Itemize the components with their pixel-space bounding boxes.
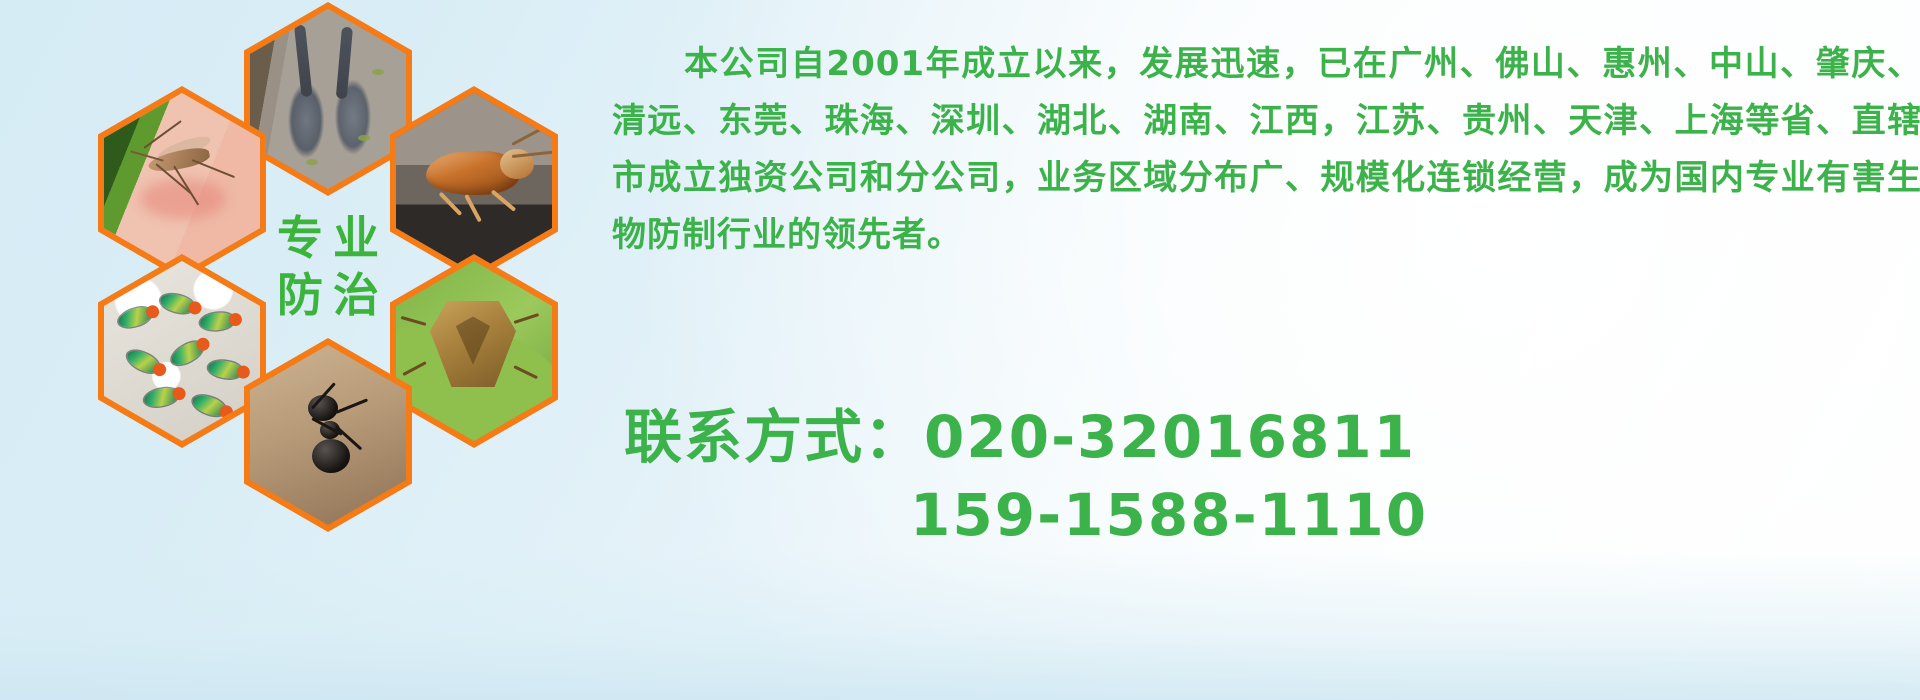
slogan-text: 专业 防治 <box>267 210 389 325</box>
slogan-line-1: 专业 <box>267 210 389 268</box>
hex-cell-cockroach[interactable] <box>390 86 558 280</box>
contact-line-primary[interactable]: 联系方式：020-32016811 <box>624 398 1920 476</box>
hex-cell-stinkbug[interactable] <box>390 254 558 448</box>
landline-number[interactable]: 020-32016811 <box>924 403 1416 471</box>
hex-inner-flies <box>104 261 260 441</box>
slogan-line-2: 防治 <box>267 267 389 325</box>
contact-line-secondary[interactable]: 159-1588-1110 <box>624 476 1920 554</box>
contact-block: 联系方式：020-32016811 159-1588-1110 <box>624 398 1920 554</box>
contact-label: 联系方式： <box>624 403 924 471</box>
stink-bug-photo <box>396 261 552 441</box>
hex-inner-cockroach <box>396 93 552 273</box>
ant-photo <box>250 345 406 525</box>
hex-inner-rats <box>250 9 406 189</box>
hex-cell-rats[interactable] <box>244 2 412 196</box>
cockroach-photo <box>396 93 552 273</box>
hex-inner-stinkbug <box>396 261 552 441</box>
hex-inner-ant <box>250 345 406 525</box>
hex-cell-flies[interactable] <box>98 254 266 448</box>
pest-control-banner: 专业 防治 本公司自2001年成立以来，发展迅速，已在广州、佛山、惠州、中山、肇… <box>0 0 1920 700</box>
hex-cell-center-slogan: 专业 防治 <box>244 170 412 364</box>
mosquito-photo <box>104 93 260 273</box>
hex-cell-ant[interactable] <box>244 338 412 532</box>
hex-inner-mosquito <box>104 93 260 273</box>
rats-photo <box>250 9 406 189</box>
company-description-paragraph: 本公司自2001年成立以来，发展迅速，已在广州、佛山、惠州、中山、肇庆、清远、东… <box>612 36 1920 264</box>
hex-cell-mosquito[interactable] <box>98 86 266 280</box>
flies-photo <box>104 261 260 441</box>
mobile-number[interactable]: 159-1588-1110 <box>910 481 1428 549</box>
hex-inner-center: 专业 防治 <box>250 177 406 357</box>
honeycomb-image-cluster: 专业 防治 <box>96 0 596 576</box>
content-column: 本公司自2001年成立以来，发展迅速，已在广州、佛山、惠州、中山、肇庆、清远、东… <box>600 0 1920 700</box>
